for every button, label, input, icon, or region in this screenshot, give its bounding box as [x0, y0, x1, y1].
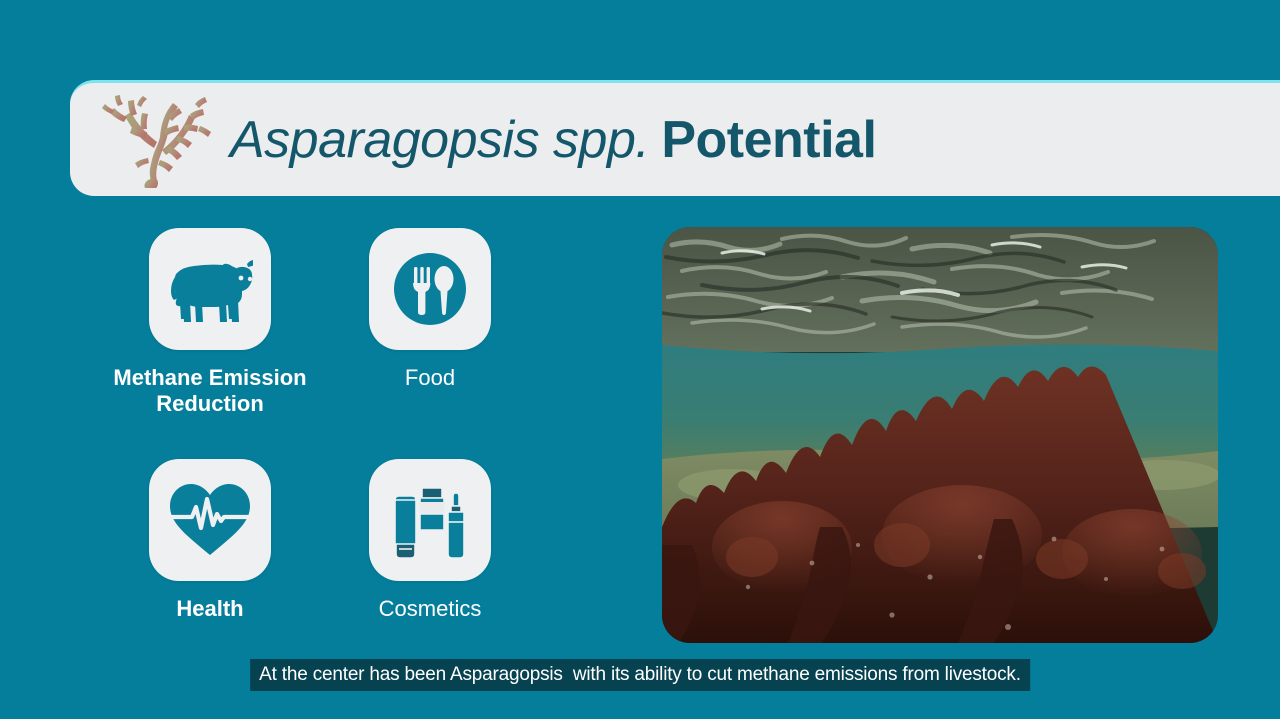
title-keyword: Potential [661, 111, 876, 169]
video-caption: At the center has been Asparagopsis with… [250, 659, 1030, 691]
benefit-row: Health [100, 459, 620, 622]
heart-pulse-icon [168, 481, 252, 559]
benefit-icon-card [369, 459, 491, 581]
page-title: Asparagopsis spp.Potential [230, 114, 876, 166]
benefit-label: Cosmetics [379, 596, 482, 622]
benefit-icon-card [369, 228, 491, 350]
cosmetics-bottles-icon [387, 478, 473, 562]
benefit-methane-emission-reduction[interactable]: Methane Emission Reduction [100, 228, 320, 417]
benefit-icon-card [149, 228, 271, 350]
benefit-row: Methane Emission Reduction [100, 228, 620, 417]
benefit-cosmetics[interactable]: Cosmetics [320, 459, 540, 622]
slide-title-bar: Asparagopsis spp.Potential [70, 80, 1280, 196]
title-species-name: Asparagopsis spp. [230, 111, 649, 169]
benefit-label: Health [176, 596, 243, 622]
underwater-asparagopsis-footage [662, 227, 1218, 643]
benefit-label: Food [405, 365, 455, 391]
benefit-health[interactable]: Health [100, 459, 320, 622]
cow-icon [167, 253, 253, 325]
benefit-icon-card [149, 459, 271, 581]
potential-benefits-grid: Methane Emission Reduction [100, 228, 620, 622]
presentation-slide: Asparagopsis spp.Potential [0, 0, 1280, 719]
benefit-label: Methane Emission Reduction [113, 365, 306, 417]
underwater-video-panel[interactable] [662, 227, 1218, 643]
plate-fork-spoon-icon [386, 245, 474, 333]
seaweed-branch-icon [96, 92, 218, 188]
benefit-food[interactable]: Food [320, 228, 540, 417]
